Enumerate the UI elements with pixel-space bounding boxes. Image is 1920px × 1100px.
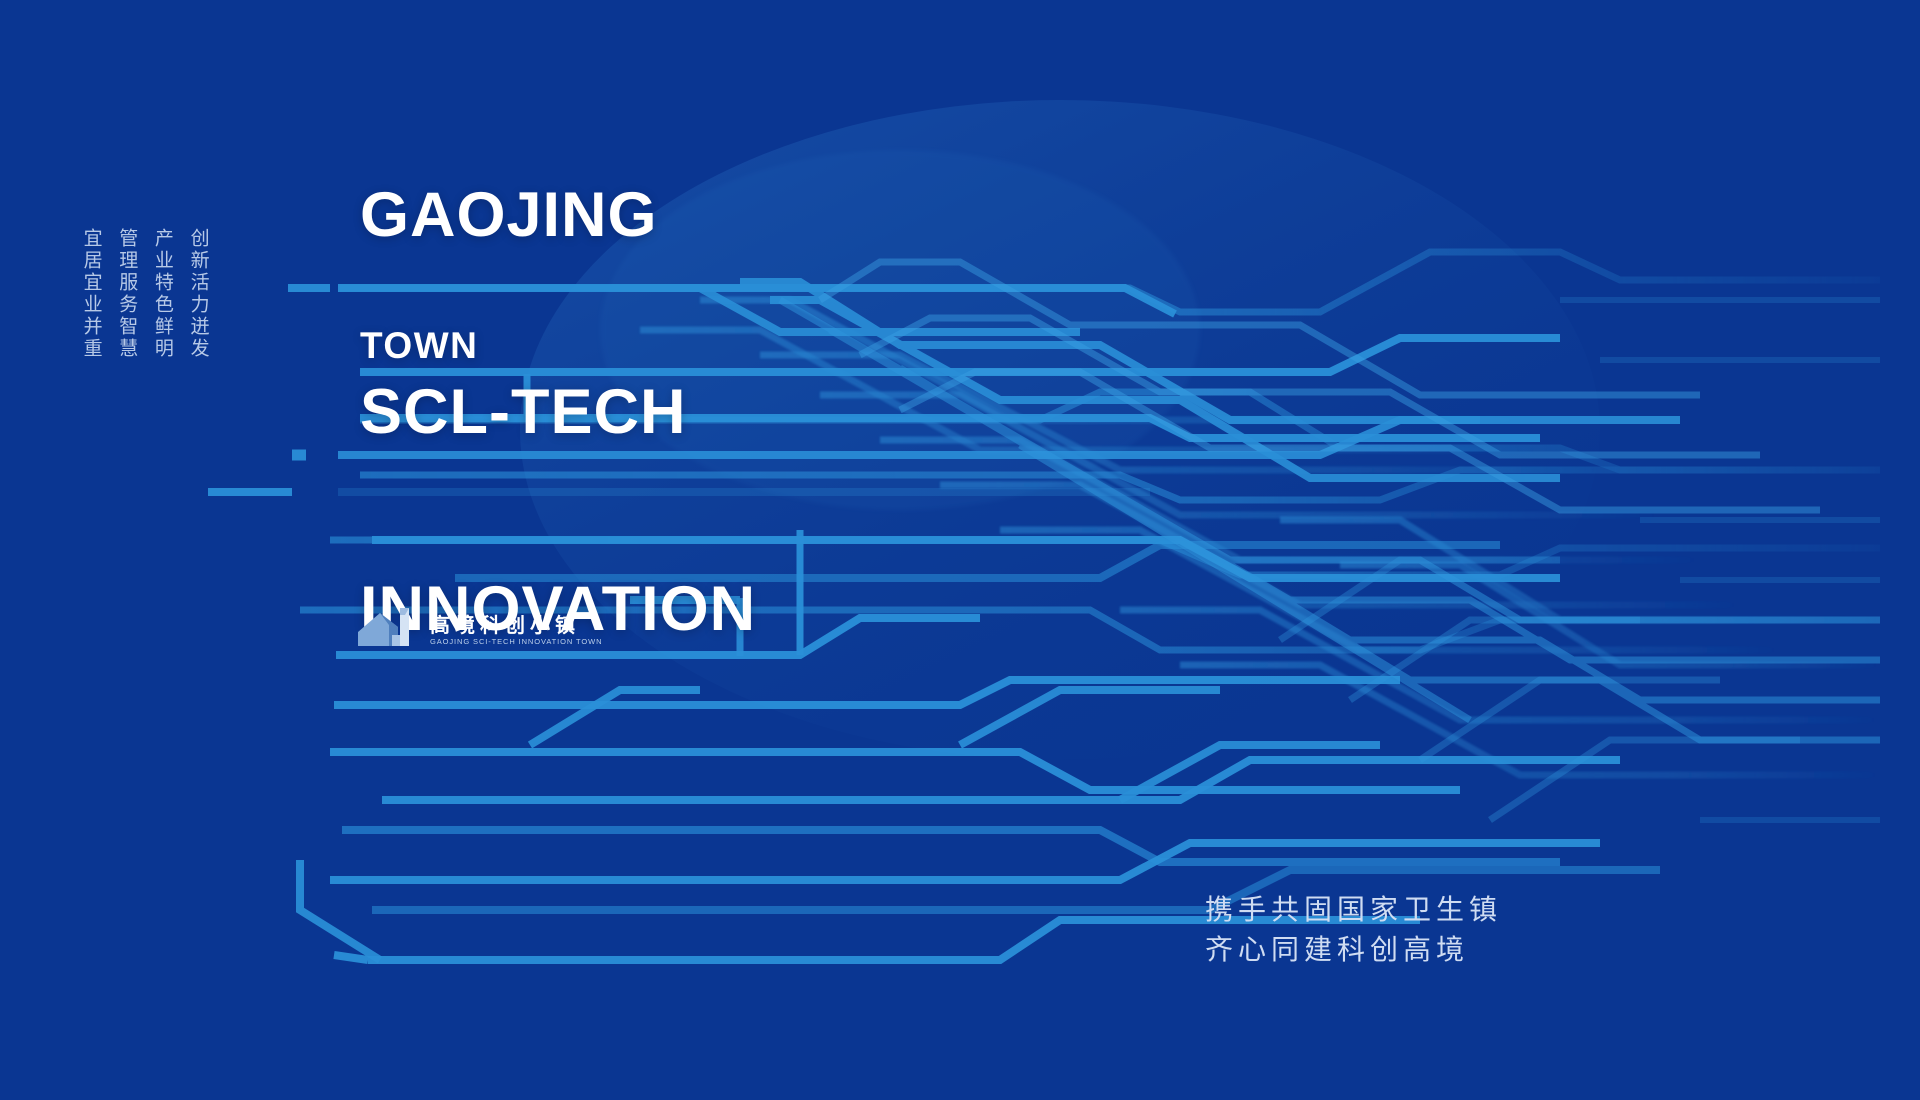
poster-canvas: GAOJING SCL-TECH INNOVATION TOWN 创新活力迸发 …: [0, 0, 1920, 1100]
bottom-slogan-line-1: 携手共固国家卫生镇: [1205, 890, 1502, 930]
vertical-slogan: 创新活力迸发 产业特色鲜明 管理服务智慧 宜居宜业并重: [78, 228, 211, 428]
bottom-slogan: 携手共固国家卫生镇 齐心同建科创高境: [1205, 890, 1502, 970]
logo-name-cn: 高境科创小镇: [430, 616, 602, 636]
title-line-1: GAOJING: [360, 184, 756, 247]
bottom-slogan-line-2: 齐心同建科创高境: [1205, 930, 1502, 970]
title-line-4: TOWN: [360, 325, 478, 367]
page-title: GAOJING SCL-TECH INNOVATION: [360, 58, 756, 775]
title-line-2: SCL-TECH: [360, 381, 756, 444]
vertical-slogan-line-2: 产业特色鲜明: [149, 228, 175, 428]
logo-lockup: 高境科创小镇 GAOJING SCI-TECH INNOVATION TOWN: [356, 605, 602, 647]
circuit-background-art: [0, 0, 1920, 1100]
vertical-slogan-line-4: 宜居宜业并重: [78, 228, 104, 428]
logo-name-en: GAOJING SCI-TECH INNOVATION TOWN: [430, 638, 602, 646]
vertical-slogan-line-1: 创新活力迸发: [185, 228, 211, 428]
vertical-slogan-line-3: 管理服务智慧: [114, 228, 140, 428]
house-building-icon: [356, 605, 418, 647]
